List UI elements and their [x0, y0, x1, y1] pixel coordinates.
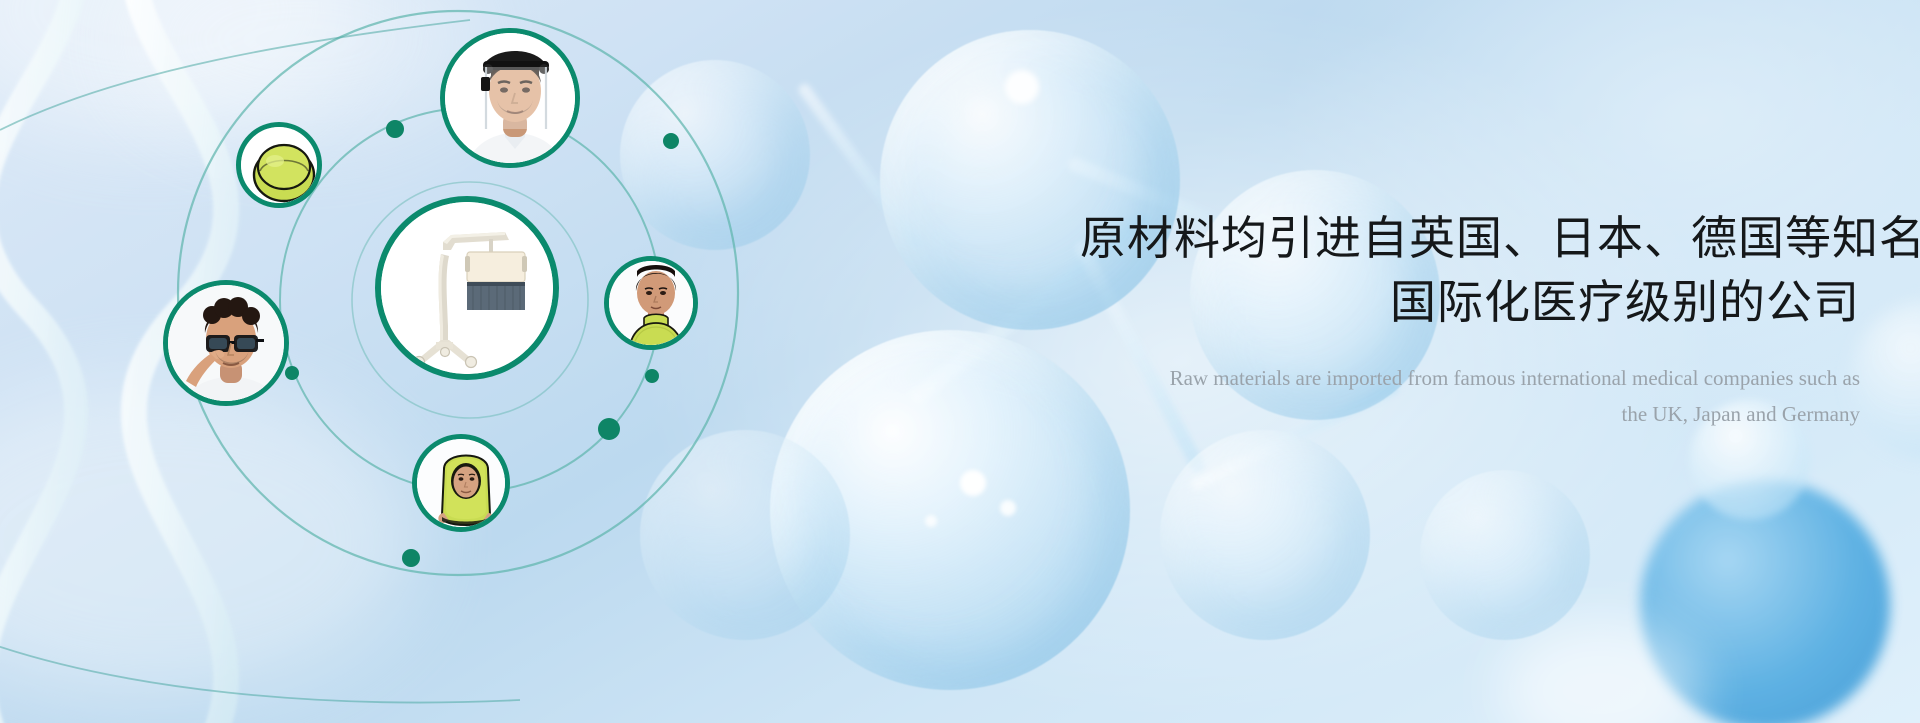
thyroid-collar-icon — [609, 261, 693, 345]
lead-cap-icon — [241, 127, 317, 203]
headline-line-1: 原材料均引进自英国、日本、德国等知名 — [1080, 212, 1920, 264]
headline-line-2: 国际化医疗级别的公司 — [1080, 270, 1860, 334]
doctor-lead-glasses-icon — [168, 285, 284, 401]
orbit-dot — [663, 133, 679, 149]
bubble-image — [609, 261, 693, 345]
molecule-highlight — [1000, 500, 1016, 516]
text-block: 原材料均引进自英国、日本、德国等知名 国际化医疗级别的公司 Raw materi… — [1080, 206, 1860, 432]
molecule-atom — [1160, 430, 1370, 640]
orbit-dot — [285, 366, 299, 380]
bubble-image — [381, 202, 553, 374]
subtitle-line-2: the UK, Japan and Germany — [1080, 396, 1860, 432]
bubble-mobile-xray-barrier[interactable] — [375, 196, 559, 380]
orbit-dot — [386, 120, 404, 138]
bubble-image — [168, 285, 284, 401]
hero-banner: 原材料均引进自英国、日本、德国等知名 国际化医疗级别的公司 Raw materi… — [0, 0, 1920, 723]
orbit-arc — [0, 20, 470, 130]
subtitle-line-1: Raw materials are imported from famous i… — [1170, 366, 1860, 390]
molecule-atom — [1420, 470, 1590, 640]
doctor-face-shield-icon — [445, 33, 575, 163]
orbit-arc — [0, 640, 520, 703]
protective-hood-icon — [417, 439, 505, 527]
bubble-image — [241, 127, 317, 203]
bubble-thyroid-collar[interactable] — [604, 256, 698, 350]
orbit-dot — [645, 369, 659, 383]
bubble-protective-hood[interactable] — [412, 434, 510, 532]
bubble-doctor-face-shield[interactable] — [440, 28, 580, 168]
bubble-image — [445, 33, 575, 163]
bubble-lead-cap[interactable] — [236, 122, 322, 208]
bubble-image — [417, 439, 505, 527]
molecule-highlight — [1005, 70, 1039, 104]
bubble-doctor-glasses[interactable] — [163, 280, 289, 406]
orbit-dot — [598, 418, 620, 440]
headline: 原材料均引进自英国、日本、德国等知名 国际化医疗级别的公司 — [1080, 206, 1860, 334]
orbit-dot — [402, 549, 420, 567]
subtitle: Raw materials are imported from famous i… — [1080, 360, 1860, 432]
mobile-xray-barrier-icon — [381, 202, 553, 374]
